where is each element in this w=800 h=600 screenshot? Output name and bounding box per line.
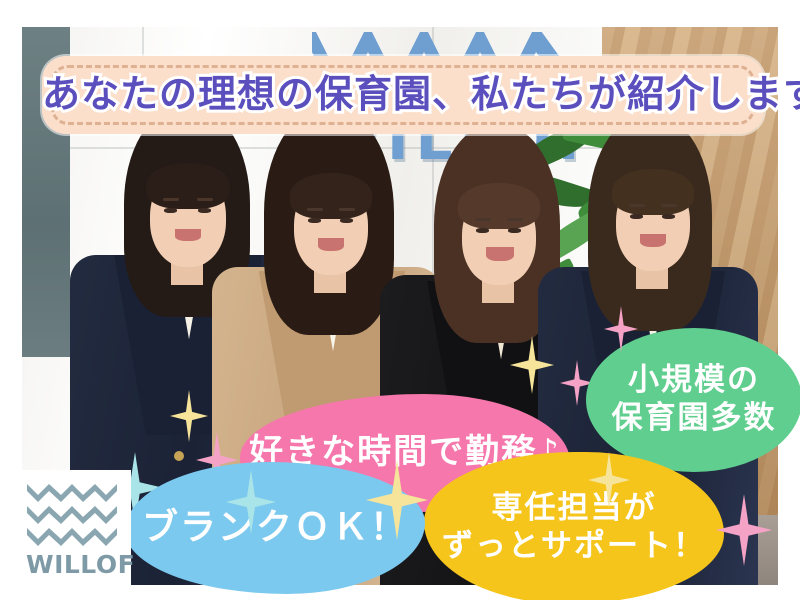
willof-logo-text: WILLOF <box>26 552 126 577</box>
headline-banner: あなたの理想の保育園、私たちが紹介します！ <box>42 56 764 134</box>
bubble-green-line1: 小規模の <box>606 362 783 400</box>
bubble-small-nursery[interactable]: 小規模の 保育園多数 <box>586 328 800 472</box>
bubble-yellow-line2: ずっとサポート！ <box>436 528 712 566</box>
ad-banner-root: WILLOF <box>0 0 800 600</box>
bubble-blue-text: ブランクＯＫ！ <box>136 506 414 550</box>
zigzag-wave-icon <box>27 484 117 546</box>
willof-logo-card: WILLOF <box>13 470 131 588</box>
bubble-green-line2: 保育園多数 <box>606 400 783 438</box>
bubble-blank-ok[interactable]: ブランクＯＫ！ <box>125 462 425 594</box>
bubble-dedicated-support[interactable]: 専任担当が ずっとサポート！ <box>424 452 724 600</box>
headline-text: あなたの理想の保育園、私たちが紹介します！ <box>42 74 764 116</box>
bubble-yellow-line1: 専任担当が <box>436 490 712 528</box>
